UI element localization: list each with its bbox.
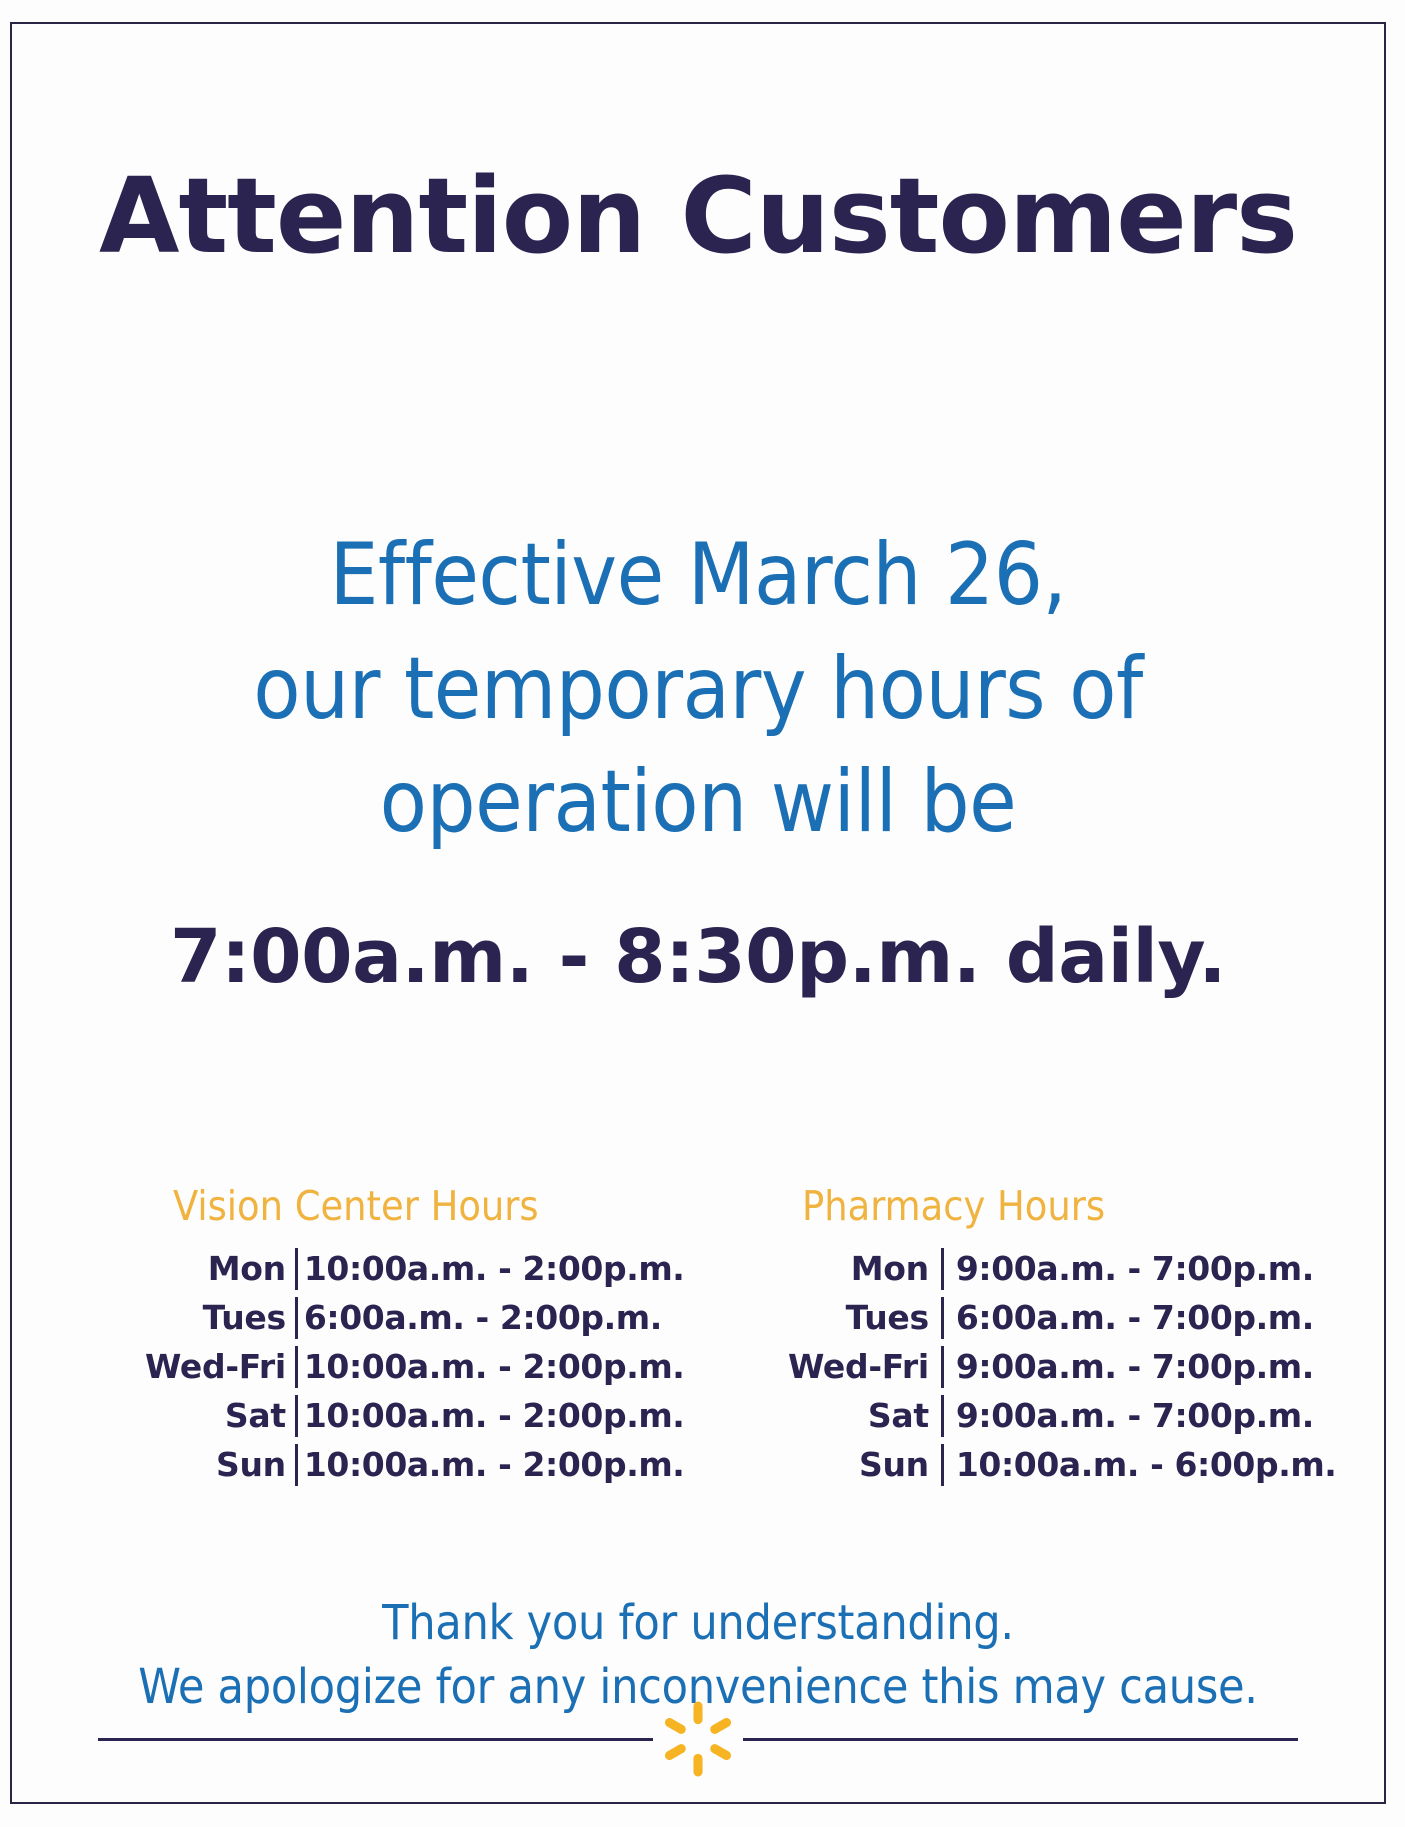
sign-page: Attention Customers Effective March 26, … <box>0 0 1405 1827</box>
day-label: Mon <box>145 1244 295 1293</box>
day-label: Sat <box>145 1391 295 1440</box>
hours-value: 9:00a.m. - 7:00p.m. <box>944 1391 1337 1440</box>
vision-center-hours-title: Vision Center Hours <box>145 1182 698 1230</box>
sign-content: Attention Customers Effective March 26, … <box>10 22 1386 1804</box>
pharmacy-hours-title: Pharmacy Hours <box>788 1182 1273 1230</box>
day-label: Tues <box>145 1293 295 1342</box>
day-label: Tues <box>788 1293 941 1342</box>
table-row: Mon 10:00a.m. - 2:00p.m. <box>145 1244 684 1293</box>
table-row: Tues 6:00a.m. - 7:00p.m. <box>788 1293 1336 1342</box>
day-label: Sat <box>788 1391 941 1440</box>
hours-value: 10:00a.m. - 2:00p.m. <box>298 1244 685 1293</box>
vision-center-hours-block: Vision Center Hours Mon 10:00a.m. - 2:00… <box>123 1182 698 1489</box>
day-label: Mon <box>788 1244 941 1293</box>
closing-line-1: Thank you for understanding. <box>10 1592 1386 1656</box>
announcement-text: Effective March 26, our temporary hours … <box>10 519 1386 860</box>
table-row: Sun 10:00a.m. - 2:00p.m. <box>145 1440 684 1489</box>
day-label: Sun <box>145 1440 295 1489</box>
table-row: Sat 9:00a.m. - 7:00p.m. <box>788 1391 1336 1440</box>
announcement-line-2: our temporary hours of <box>10 633 1386 747</box>
day-label: Wed-Fri <box>145 1342 295 1391</box>
table-row: Tues 6:00a.m. - 2:00p.m. <box>145 1293 684 1342</box>
day-label: Sun <box>788 1440 941 1489</box>
table-row: Wed-Fri 9:00a.m. - 7:00p.m. <box>788 1342 1336 1391</box>
hours-value: 10:00a.m. - 2:00p.m. <box>298 1440 685 1489</box>
walmart-spark-icon <box>659 1700 737 1778</box>
hours-value: 10:00a.m. - 6:00p.m. <box>944 1440 1337 1489</box>
hours-value: 6:00a.m. - 2:00p.m. <box>298 1293 685 1342</box>
pharmacy-hours-block: Pharmacy Hours Mon 9:00a.m. - 7:00p.m. T… <box>698 1182 1273 1489</box>
hours-value: 10:00a.m. - 2:00p.m. <box>298 1342 685 1391</box>
announcement-line-1: Effective March 26, <box>10 519 1386 633</box>
hours-value: 6:00a.m. - 7:00p.m. <box>944 1293 1337 1342</box>
footer-rule-left <box>98 1738 653 1741</box>
announcement-line-3: operation will be <box>10 746 1386 860</box>
table-row: Sun 10:00a.m. - 6:00p.m. <box>788 1440 1336 1489</box>
hours-value: 9:00a.m. - 7:00p.m. <box>944 1244 1337 1293</box>
footer <box>10 1704 1386 1774</box>
schedules-section: Vision Center Hours Mon 10:00a.m. - 2:00… <box>10 1182 1386 1489</box>
day-label: Wed-Fri <box>788 1342 941 1391</box>
pharmacy-hours-table: Mon 9:00a.m. - 7:00p.m. Tues 6:00a.m. - … <box>788 1244 1336 1489</box>
table-row: Mon 9:00a.m. - 7:00p.m. <box>788 1244 1336 1293</box>
page-title: Attention Customers <box>10 162 1386 271</box>
footer-rule-right <box>743 1738 1298 1741</box>
hours-value: 10:00a.m. - 2:00p.m. <box>298 1391 685 1440</box>
vision-center-hours-table: Mon 10:00a.m. - 2:00p.m. Tues 6:00a.m. -… <box>145 1244 684 1489</box>
store-hours-statement: 7:00a.m. - 8:30p.m. daily. <box>10 914 1386 1000</box>
table-row: Sat 10:00a.m. - 2:00p.m. <box>145 1391 684 1440</box>
hours-value: 9:00a.m. - 7:00p.m. <box>944 1342 1337 1391</box>
table-row: Wed-Fri 10:00a.m. - 2:00p.m. <box>145 1342 684 1391</box>
